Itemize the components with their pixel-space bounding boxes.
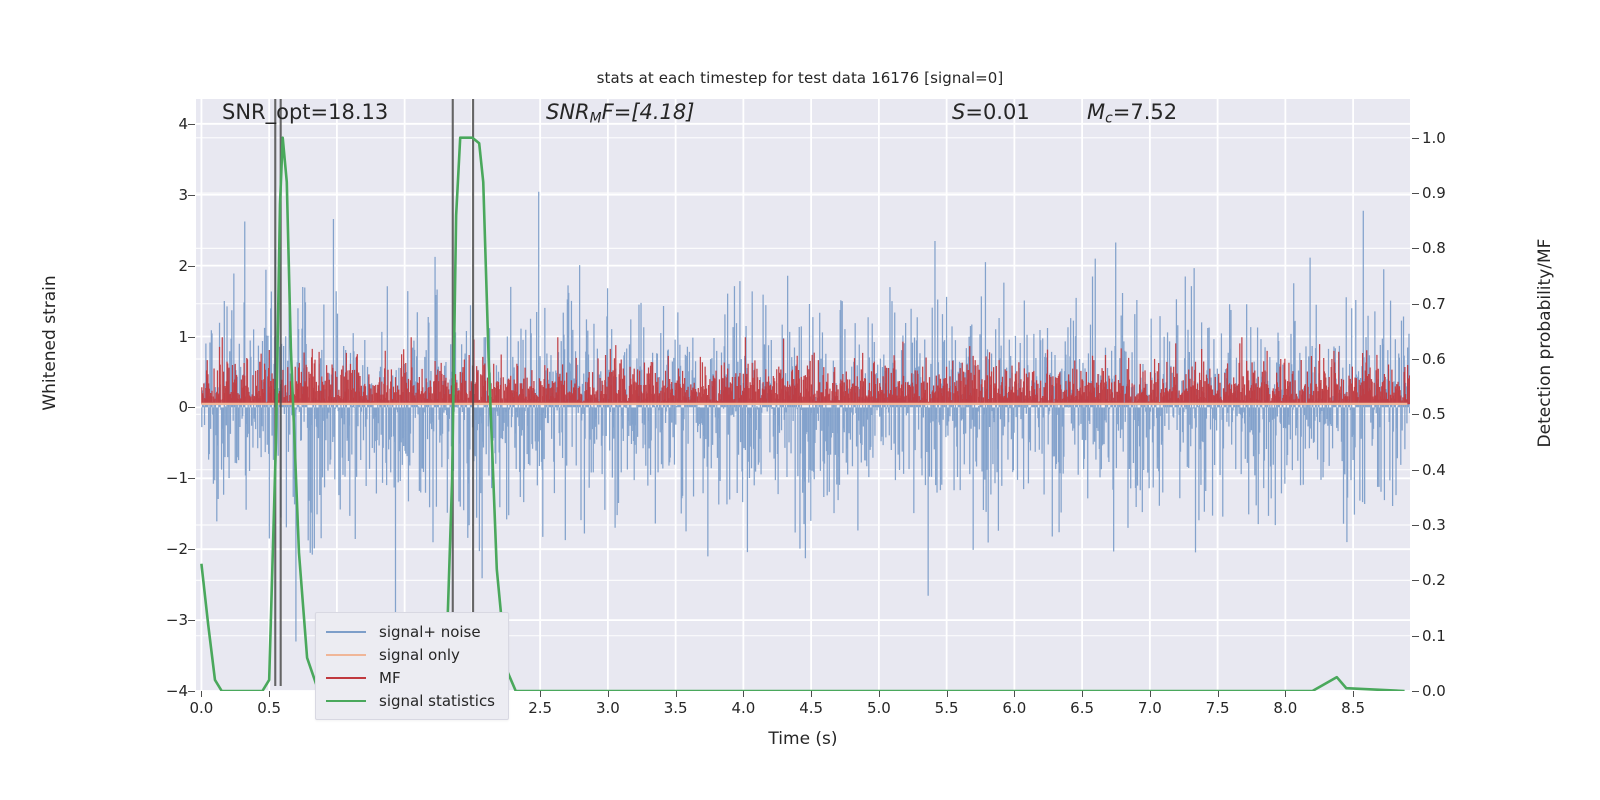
y-tick-label-left: 3 — [178, 186, 188, 204]
y-tick-label-left: 0 — [178, 398, 188, 416]
legend-swatch-icon — [326, 654, 366, 656]
legend-item[interactable]: signal only — [326, 643, 495, 666]
x-tick-label: 4.5 — [799, 699, 823, 717]
annotation-s-prefix: S — [952, 100, 965, 124]
annotation-mc: Mc=7.52 — [1087, 100, 1177, 126]
y-tick-mark-left — [188, 124, 195, 125]
y-axis-label-left: Whitened strain — [40, 143, 60, 543]
x-tick-mark — [811, 691, 812, 697]
annotation-mc-rest: =7.52 — [1113, 100, 1177, 124]
y-tick-label-right: 0.7 — [1422, 295, 1446, 313]
y-tick-label-right: 0.0 — [1422, 682, 1446, 700]
x-tick-label: 6.5 — [1070, 699, 1094, 717]
x-tick-label: 4.0 — [731, 699, 755, 717]
x-tick-label: 7.5 — [1206, 699, 1230, 717]
y-tick-mark-left — [188, 266, 195, 267]
y-tick-mark-right — [1412, 636, 1419, 637]
legend-swatch-icon — [326, 700, 366, 702]
y-tick-mark-left — [188, 407, 195, 408]
x-tick-label: 5.0 — [867, 699, 891, 717]
x-tick-label: 0.5 — [257, 699, 281, 717]
x-tick-mark — [743, 691, 744, 697]
y-tick-mark-left — [188, 549, 195, 550]
annotation-snr-mf: SNRMF=[4.18] — [546, 100, 694, 126]
y-tick-mark-left — [188, 620, 195, 621]
annotation-s: S=0.01 — [952, 100, 1030, 124]
x-tick-label: 5.5 — [935, 699, 959, 717]
y-tick-mark-right — [1412, 248, 1419, 249]
x-tick-mark — [676, 691, 677, 697]
y-tick-label-left: 2 — [178, 257, 188, 275]
y-tick-mark-right — [1412, 580, 1419, 581]
annotation-snr-opt: SNR_opt=18.13 — [222, 100, 388, 124]
y-tick-mark-left — [188, 478, 195, 479]
x-tick-mark — [1218, 691, 1219, 697]
x-tick-mark — [1082, 691, 1083, 697]
x-tick-label: 7.0 — [1138, 699, 1162, 717]
x-tick-mark — [879, 691, 880, 697]
x-tick-label: 8.5 — [1341, 699, 1365, 717]
legend-swatch-icon — [326, 677, 366, 679]
legend-item[interactable]: signal statistics — [326, 689, 495, 712]
y-tick-mark-right — [1412, 304, 1419, 305]
legend-swatch-icon — [326, 631, 366, 633]
y-tick-mark-right — [1412, 525, 1419, 526]
y-tick-label-right: 0.9 — [1422, 184, 1446, 202]
y-tick-mark-right — [1412, 414, 1419, 415]
y-tick-label-right: 0.3 — [1422, 516, 1446, 534]
y-tick-mark-right — [1412, 691, 1419, 692]
x-tick-mark — [269, 691, 270, 697]
y-tick-mark-left — [188, 337, 195, 338]
x-tick-mark — [1150, 691, 1151, 697]
x-tick-mark — [608, 691, 609, 697]
series-signal-noise — [202, 192, 1410, 652]
legend-item-label: MF — [379, 669, 401, 687]
y-tick-label-left: 1 — [178, 328, 188, 346]
legend-item[interactable]: signal+ noise — [326, 620, 495, 643]
y-tick-label-right: 0.8 — [1422, 239, 1446, 257]
annotation-mc-sub: c — [1105, 110, 1113, 126]
y-tick-label-left: 4 — [178, 115, 188, 133]
y-tick-label-left: −1 — [166, 469, 188, 487]
data-layer — [196, 99, 1410, 691]
annotation-s-rest: =0.01 — [965, 100, 1029, 124]
x-axis-label: Time (s) — [196, 729, 1410, 749]
y-tick-mark-right — [1412, 359, 1419, 360]
chart-title: stats at each timestep for test data 161… — [0, 69, 1600, 87]
y-tick-mark-left — [188, 195, 195, 196]
y-tick-label-left: −2 — [166, 540, 188, 558]
y-tick-label-right: 1.0 — [1422, 129, 1446, 147]
y-tick-mark-right — [1412, 470, 1419, 471]
annotation-snr-mf-sub: M — [590, 110, 602, 126]
legend-item[interactable]: MF — [326, 666, 495, 689]
y-tick-label-right: 0.2 — [1422, 571, 1446, 589]
x-tick-mark — [201, 691, 202, 697]
y-tick-label-right: 0.6 — [1422, 350, 1446, 368]
x-tick-mark — [947, 691, 948, 697]
x-tick-label: 3.0 — [596, 699, 620, 717]
x-tick-label: 0.0 — [189, 699, 213, 717]
y-tick-label-right: 0.5 — [1422, 405, 1446, 423]
y-tick-mark-right — [1412, 193, 1419, 194]
x-tick-mark — [1353, 691, 1354, 697]
x-tick-label: 3.5 — [664, 699, 688, 717]
y-tick-label-left: −4 — [166, 682, 188, 700]
y-tick-mark-right — [1412, 138, 1419, 139]
annotation-mc-prefix: M — [1087, 100, 1105, 124]
x-tick-label: 2.5 — [528, 699, 552, 717]
y-tick-mark-left — [188, 691, 195, 692]
x-tick-mark — [1285, 691, 1286, 697]
figure: stats at each timestep for test data 161… — [0, 0, 1600, 800]
annotation-snr-mf-prefix: SNR — [546, 100, 590, 124]
x-tick-label: 8.0 — [1273, 699, 1297, 717]
y-axis-label-right: Detection probability/MF — [1535, 143, 1555, 543]
x-tick-mark — [540, 691, 541, 697]
legend-item-label: signal statistics — [379, 692, 495, 710]
legend-item-label: signal only — [379, 646, 460, 664]
annotation-snr-mf-rest: F=[4.18] — [602, 100, 695, 124]
y-tick-label-right: 0.1 — [1422, 627, 1446, 645]
y-tick-label-left: −3 — [166, 611, 188, 629]
x-tick-mark — [1014, 691, 1015, 697]
legend: signal+ noisesignal onlyMFsignal statist… — [315, 612, 509, 720]
y-tick-label-right: 0.4 — [1422, 461, 1446, 479]
plot-area — [196, 99, 1410, 691]
legend-item-label: signal+ noise — [379, 623, 481, 641]
x-tick-label: 6.0 — [1002, 699, 1026, 717]
